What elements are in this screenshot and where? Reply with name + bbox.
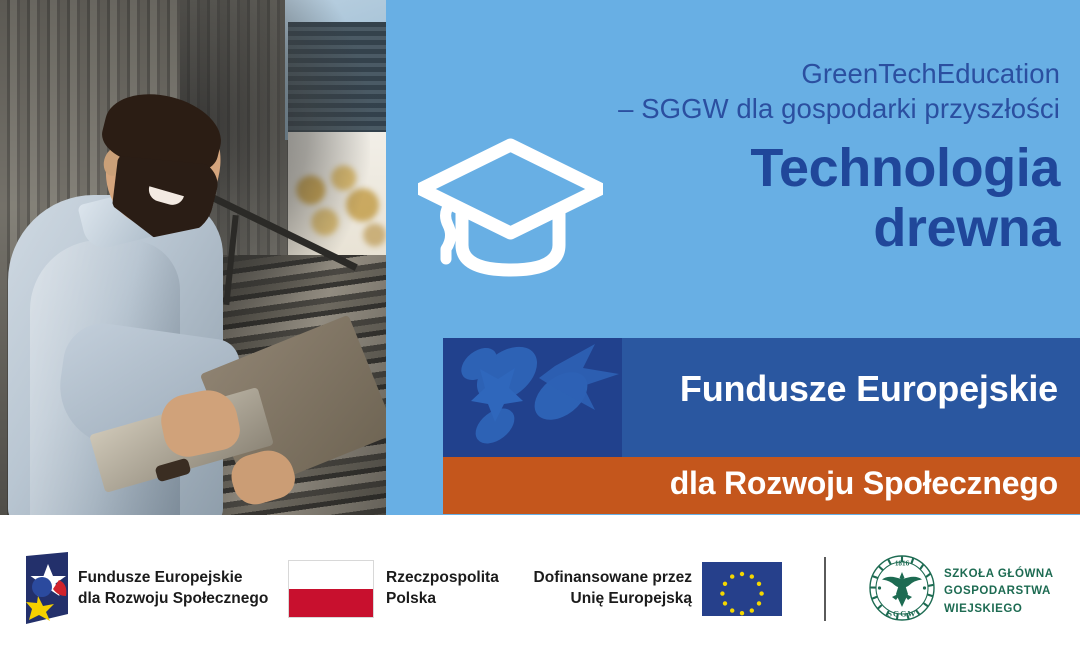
sggw-seal-initials: SGGW — [888, 610, 917, 619]
poland-line1: Rzeczpospolita — [386, 567, 499, 588]
eu-line2: Unię Europejską — [522, 588, 692, 609]
hero-title: Technologia drewna — [400, 138, 1060, 259]
hero-title-line1: Technologia — [400, 138, 1060, 198]
fundusze-europejskie-logo-icon — [18, 552, 74, 628]
poster-root: GreenTechEducation – SGGW dla gospodarki… — [0, 0, 1080, 660]
hero-subtitle-line1: GreenTechEducation — [400, 56, 1060, 91]
poland-line2: Polska — [386, 588, 499, 609]
fundusze-europejskie-logo-text: Fundusze Europejskie dla Rozwoju Społecz… — [78, 567, 268, 610]
hero-subtitle-line2: – SGGW dla gospodarki przyszłości — [400, 91, 1060, 126]
sggw-seal-year: 1816 — [895, 560, 910, 568]
fe-logo-line1: Fundusze Europejskie — [78, 567, 268, 588]
sggw-seal-icon: 1816 SGGW — [868, 554, 936, 622]
hero-title-line2: drewna — [400, 198, 1060, 258]
fundusze-europejskie-label: Fundusze Europejskie — [458, 368, 1058, 410]
footer-divider — [824, 557, 826, 621]
sggw-line2: GOSPODARSTWA — [944, 583, 1054, 600]
dofinansowane-przez-ue-text: Dofinansowane przez Unię Europejską — [522, 567, 692, 610]
hero-section: GreenTechEducation – SGGW dla gospodarki… — [0, 0, 1080, 515]
rzeczpospolita-polska-text: Rzeczpospolita Polska — [386, 567, 499, 610]
hero-subtitle: GreenTechEducation – SGGW dla gospodarki… — [400, 56, 1060, 126]
sggw-line1: SZKOŁA GŁÓWNA — [944, 566, 1054, 583]
sggw-line3: WIEJSKIEGO — [944, 601, 1054, 618]
dla-rozwoju-spolecznego-label: dla Rozwoju Społecznego — [458, 465, 1058, 502]
flaga-polski-icon — [288, 560, 374, 618]
flaga-unii-europejskiej-icon — [702, 562, 782, 616]
flaga-polski-red-band — [289, 589, 373, 617]
sggw-logo-text: SZKOŁA GŁÓWNA GOSPODARSTWA WIEJSKIEGO — [944, 566, 1054, 618]
hero-photo — [0, 0, 386, 515]
fe-logo-line2: dla Rozwoju Społecznego — [78, 588, 268, 609]
eu-line1: Dofinansowane przez — [522, 567, 692, 588]
